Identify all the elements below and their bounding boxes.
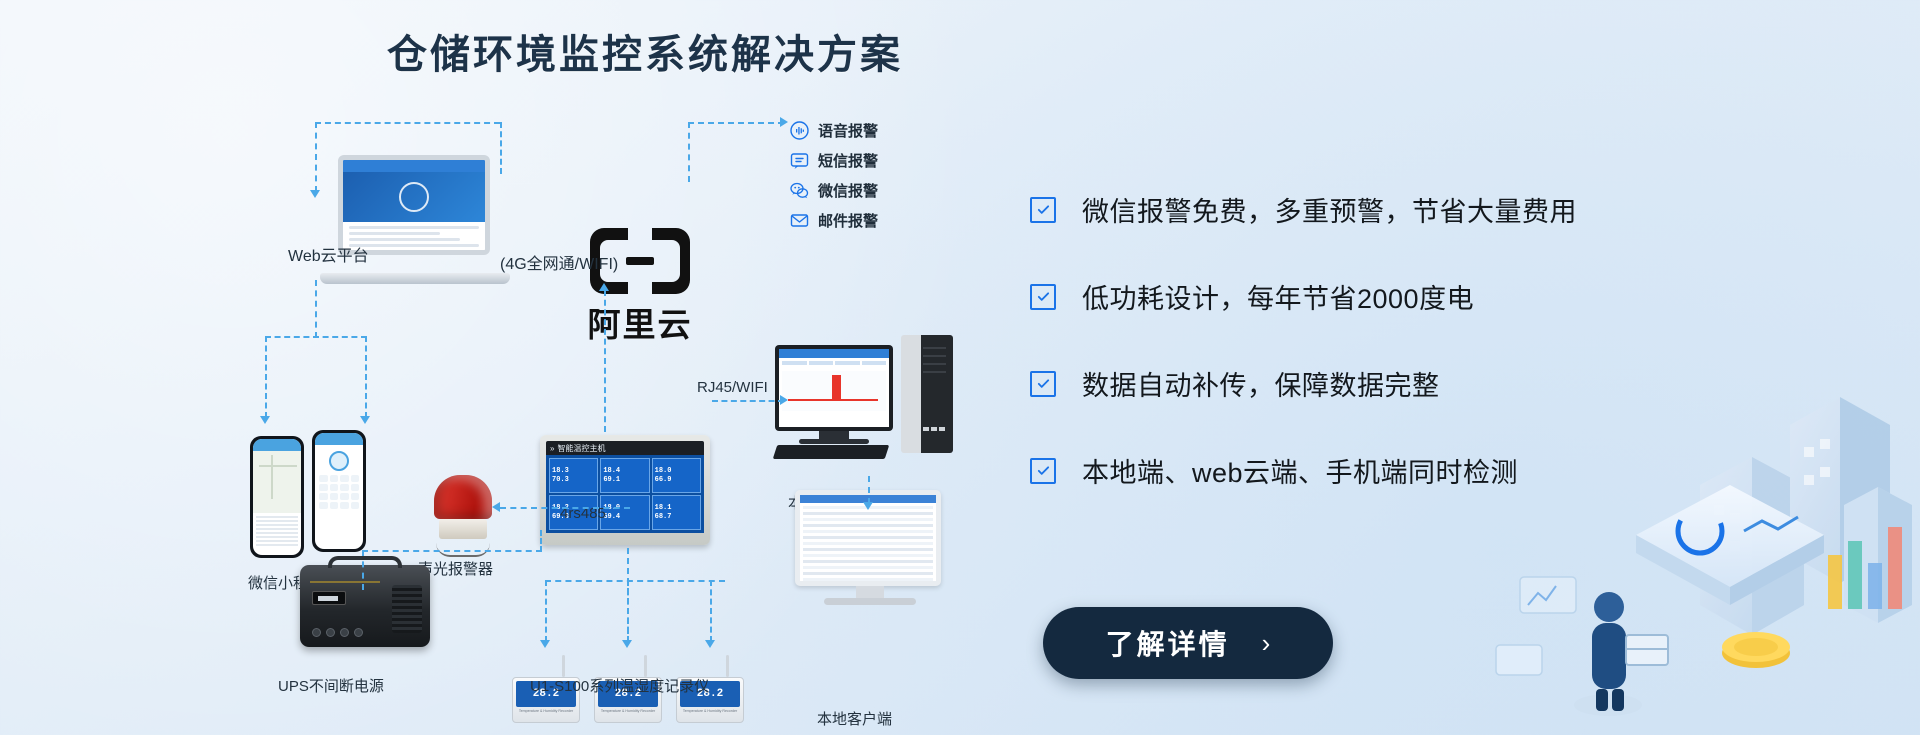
feature-label: 低功耗设计，每年节省2000度电 (1082, 277, 1474, 316)
checkbox-checked-icon (1030, 197, 1056, 223)
conn-ups-bus (362, 550, 542, 552)
alert-item-label: 语音报警 (818, 120, 878, 141)
conn-sensor2-down (627, 580, 629, 642)
sensor-antenna (562, 655, 565, 677)
client-screen-table (800, 503, 936, 581)
conn-controller-to-siren (500, 507, 630, 509)
phone-gauge (329, 451, 349, 471)
ups-display (312, 591, 346, 605)
phone-dashboard (312, 430, 366, 552)
arrow-to-sensor2 (622, 640, 632, 648)
arrow-to-alerts (780, 117, 788, 127)
sensor-antenna (644, 655, 647, 677)
feature-item: 低功耗设计，每年节省2000度电 (1030, 277, 1710, 316)
alert-item-voice: 语音报警 (790, 118, 878, 142)
conn-controller-to-cloud (604, 290, 606, 432)
alert-item-wechat: 微信报警 (790, 178, 878, 202)
pc-tower (901, 335, 953, 453)
ups-ports (312, 628, 363, 637)
chevron-right-icon: » (550, 444, 554, 453)
siren-dome (434, 475, 492, 519)
alert-item-sms: 短信报警 (790, 148, 878, 172)
email-alarm-icon (790, 211, 809, 230)
laptop-page (343, 160, 485, 250)
sensor-caption: Temperature & Humidity Recorder (680, 709, 740, 713)
phone-map-screen (253, 439, 301, 555)
sms-alarm-icon (790, 151, 809, 170)
feature-item: 本地端、web云端、手机端同时检测 (1030, 451, 1710, 490)
wechat-alarm-icon (790, 181, 809, 200)
arrow-to-phone2 (360, 416, 370, 424)
sensor-antenna (726, 655, 729, 677)
learn-more-button[interactable]: 了解详情 › (1043, 607, 1333, 679)
voice-alarm-icon (790, 121, 809, 140)
phone-map-area (253, 451, 301, 513)
controller-body: » 智能温控主机 18.370.3 18.469.1 18.066.9 18.2… (540, 435, 710, 545)
alert-method-list: 语音报警 短信报警 微信报警 邮件报警 (790, 118, 878, 238)
wechat-app-phones (250, 430, 370, 562)
alert-item-email: 邮件报警 (790, 208, 878, 232)
monitor-foot (799, 439, 869, 444)
conn-phones-horizontal (265, 336, 367, 338)
laptop-page-hero (343, 172, 485, 222)
arrow-to-sensor1 (540, 640, 550, 648)
cell-temp: 18.0 (655, 467, 698, 476)
label-rj45-wifi: RJ45/WIFI (697, 379, 768, 396)
phone-map (250, 436, 304, 558)
web-cloud-laptop (320, 155, 510, 290)
feature-item: 微信报警免费，多重预警，节省大量费用 (1030, 190, 1710, 229)
ups-brand-stripe (310, 581, 380, 583)
feature-list: 微信报警免费，多重预警，节省大量费用 低功耗设计，每年节省2000度电 数据自动… (1030, 190, 1710, 538)
checkbox-checked-icon (1030, 284, 1056, 310)
laptop-screen (338, 155, 490, 255)
label-ups: UPS不间断电源 (278, 675, 384, 696)
controller-cell: 18.066.9 (652, 458, 701, 493)
chart-alarm-bar (832, 375, 841, 401)
conn-sensor-bus (545, 580, 725, 582)
feature-label: 本地端、web云端、手机端同时检测 (1082, 451, 1518, 490)
checkbox-checked-icon (1030, 371, 1056, 397)
pc-screen-chart (782, 371, 886, 411)
tower-drive-slots (923, 347, 946, 349)
pc-monitor (775, 345, 893, 431)
alert-item-label: 邮件报警 (818, 210, 878, 231)
pc-screen (779, 349, 889, 427)
arrow-to-laptop (310, 190, 320, 198)
phone-dashboard-screen (315, 433, 363, 549)
phone-map-list (253, 513, 301, 551)
cell-hum: 66.9 (655, 476, 698, 485)
conn-cloud-up (688, 122, 690, 182)
conn-pc-to-client (868, 476, 870, 504)
sound-light-alarm (430, 475, 496, 555)
arrow-to-client (863, 502, 873, 510)
ups-handle (328, 556, 402, 568)
pc-keyboard (773, 445, 890, 459)
cell-hum: 69.4 (603, 513, 646, 522)
cell-temp: 18.4 (603, 467, 646, 476)
conn-laptop-down (315, 280, 317, 338)
conn-cloud-to-alerts (688, 122, 784, 124)
conn-phone2-down (365, 336, 367, 418)
page-title: 仓储环境监控系统解决方案 (0, 22, 1290, 80)
conn-ups-down (362, 550, 364, 590)
phone-app-grid (315, 475, 363, 509)
architecture-diagram: Web云平台 阿里云 (4G全网通/WIFI) (0, 80, 1060, 720)
label-local-client: 本地客户端 (817, 708, 892, 729)
alert-item-label: 短信报警 (818, 150, 878, 171)
ups-power-supply (300, 565, 430, 663)
cell-hum: 68.7 (655, 513, 698, 522)
alert-item-label: 微信报警 (818, 180, 878, 201)
sensor-caption: Temperature & Humidity Recorder (598, 709, 658, 713)
conn-top-horizontal (315, 122, 500, 124)
arrow-to-pc (780, 395, 788, 405)
client-monitor-foot (824, 598, 916, 605)
tower-leds (923, 427, 945, 431)
smart-controller-host: » 智能温控主机 18.370.3 18.469.1 18.066.9 18.2… (540, 435, 710, 545)
label-web-cloud-platform: Web云平台 (288, 242, 369, 266)
controller-cell: 18.469.1 (600, 458, 649, 493)
conn-ups-to-controller (540, 530, 542, 552)
laptop-page-header (343, 160, 485, 172)
pc-screen-toolbar (779, 358, 889, 368)
cell-hum: 70.3 (552, 476, 595, 485)
alibaba-cloud-node: 阿里云 (575, 228, 705, 346)
conn-controller-to-pc (712, 400, 784, 402)
arrow-to-siren (492, 502, 500, 512)
controller-cell: 18.370.3 (549, 458, 598, 493)
label-sensors: U1-S100系列温湿度记录仪 (530, 675, 709, 696)
ups-vent (392, 585, 422, 633)
alibaba-cloud-label: 阿里云 (575, 298, 705, 346)
phone-status-bar (315, 433, 363, 445)
conn-sensor3-down (710, 580, 712, 642)
phone-status-bar (253, 439, 301, 451)
conn-sensor1-down (545, 580, 547, 642)
arrow-to-sensor3 (705, 640, 715, 648)
arrow-to-phone1 (260, 416, 270, 424)
feature-label: 数据自动补传，保障数据完整 (1082, 364, 1440, 403)
controller-cell: 18.069.4 (600, 495, 649, 530)
checkbox-checked-icon (1030, 458, 1056, 484)
laptop-base (320, 273, 510, 284)
cell-temp: 18.3 (552, 467, 595, 476)
controller-cell: 18.168.7 (652, 495, 701, 530)
chart-trend-line (788, 399, 877, 401)
conn-down-to-cloud (500, 122, 502, 174)
ups-body (300, 565, 430, 647)
siren-base (439, 519, 487, 539)
cell-temp: 18.1 (655, 504, 698, 513)
arrow-controller-to-cloud (599, 283, 609, 291)
label-network-type: (4G全网通/WIFI) (500, 250, 618, 274)
controller-title: 智能温控主机 (557, 443, 605, 454)
controller-title-bar: » 智能温控主机 (546, 441, 704, 455)
monitor-stand (819, 431, 849, 439)
pc-screen-header (779, 349, 889, 358)
conn-phone1-down (265, 336, 267, 418)
client-monitor-neck (856, 586, 884, 598)
conn-laptop-up (315, 122, 317, 192)
sensor-caption: Temperature & Humidity Recorder (516, 709, 576, 713)
cell-hum: 69.1 (603, 476, 646, 485)
feature-item: 数据自动补传，保障数据完整 (1030, 364, 1710, 403)
feature-label: 微信报警免费，多重预警，节省大量费用 (1082, 190, 1577, 229)
learn-more-label: 了解详情 (1106, 623, 1230, 663)
chevron-right-icon: › (1262, 630, 1271, 656)
local-system-pc (775, 335, 965, 470)
